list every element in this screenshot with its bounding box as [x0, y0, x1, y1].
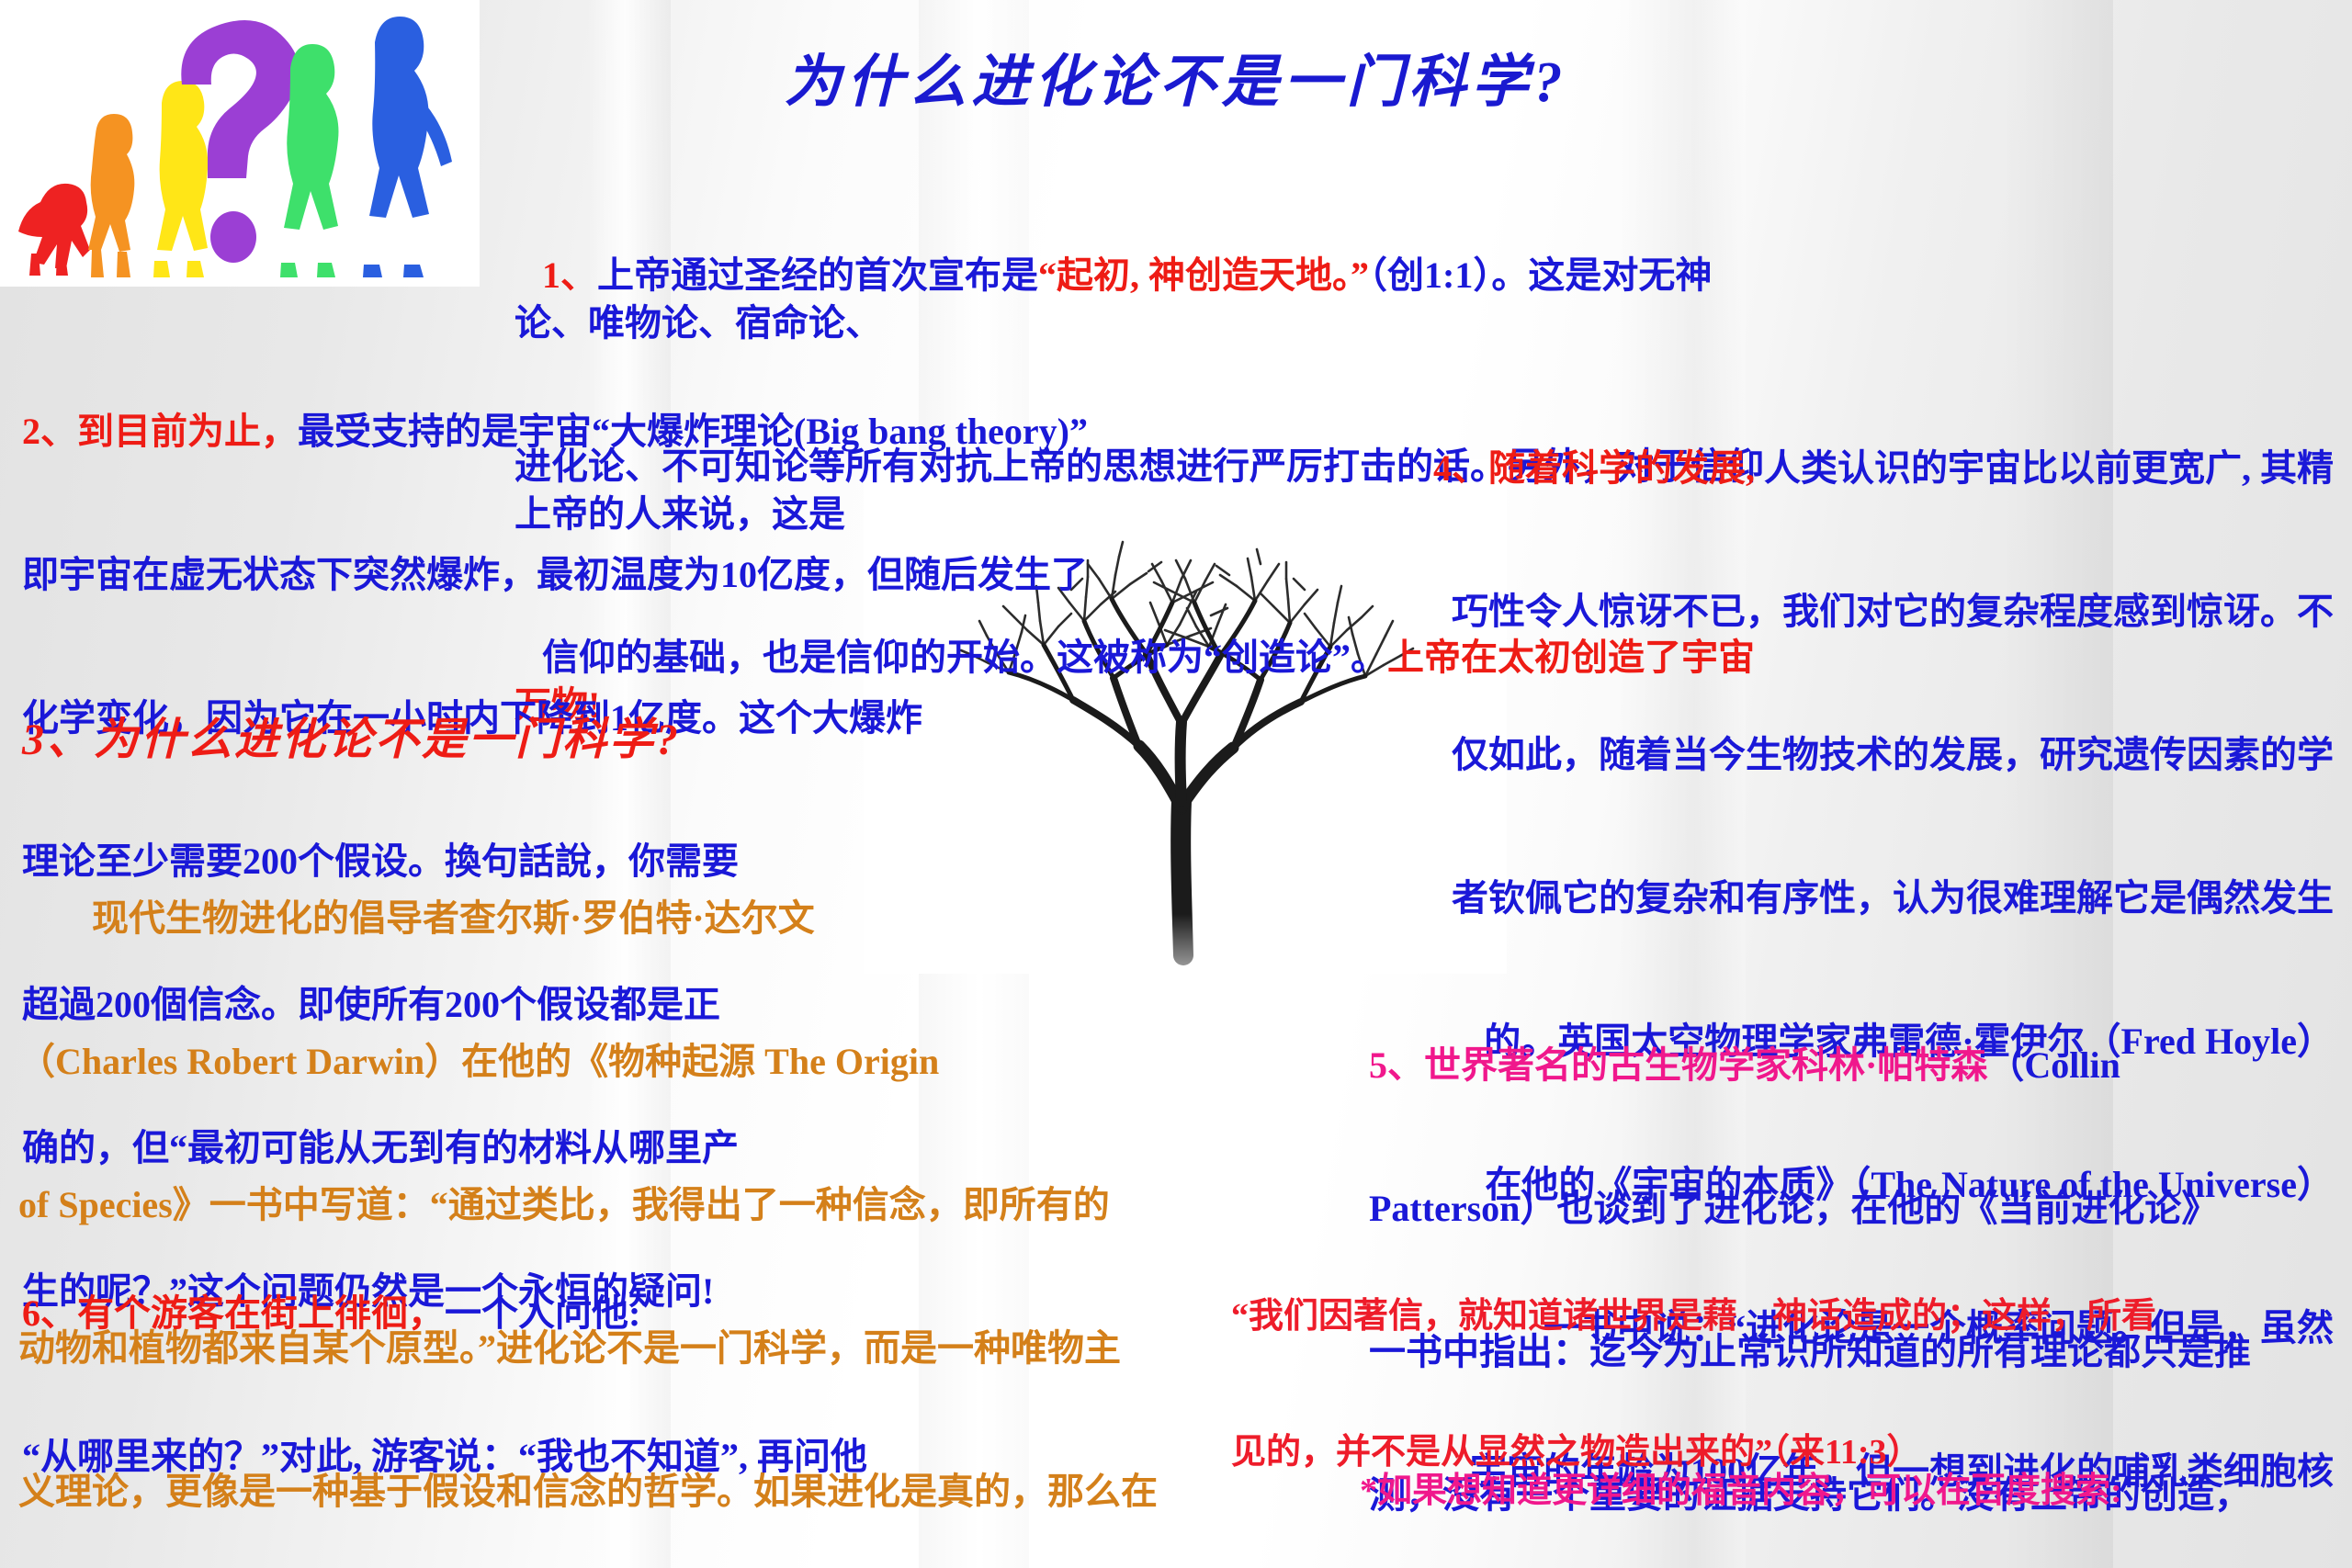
page-title-text: 为什么进化论不是一门科学?	[784, 51, 1567, 114]
paragraph-4-line-3: 仅如此，随着当今生物技术的发展，研究遗传因素的学	[1314, 731, 2334, 779]
paragraph-6-marker: 6、有个游客在街上徘徊，	[22, 1292, 445, 1334]
paragraph-1-marker: 1、	[542, 254, 597, 296]
paragraph-2-line-2: 即宇宙在虚无状态下突然爆炸，最初温度为10亿度，但随后发生了	[22, 551, 1244, 599]
paragraph-1-line-1-text: 上帝通过圣经的首次宣布是	[597, 254, 1038, 296]
paragraph-5-line-1-text: （Collin	[1987, 1044, 2120, 1086]
paragraph-3-line-1: 现代生物进化的倡导者查尔斯·罗伯特·达尔文	[18, 895, 1332, 942]
footer-note: *如果想知道更详细的福音内容，可以在百度搜索: 《我人生中最美好的开始》或者联系…	[1360, 1378, 2334, 1568]
section-3-heading: 3、为什么进化论不是一门科学?	[22, 703, 681, 767]
paragraph-2-line-1: 2、到目前为止，最受支持的是宇宙“大爆炸理论(Big bang theory)”	[22, 408, 1244, 456]
paragraph-4-line-1-text: 人类认识的宇宙比以前更宽广, 其精	[1755, 447, 2334, 489]
paragraph-2-marker: 2、到目前为止，	[22, 411, 298, 452]
scripture-quote-line-1: “我们因著信，就知道诸世界是藉 神话造成的；这样，所看	[1231, 1294, 2334, 1339]
evolution-question-mark-logo	[0, 0, 480, 287]
paragraph-2-line-1-text: 最受支持的是宇宙“大爆炸理论(Big bang theory)”	[298, 411, 1088, 452]
paragraph-4-marker: 4、随着科学的发展,	[1433, 447, 1755, 489]
paragraph-4-line-1: 4、随着科学的发展, 人类认识的宇宙比以前更宽广, 其精	[1314, 445, 2334, 492]
footer-note-line-1: *如果想知道更详细的福音内容，可以在百度搜索:	[1360, 1469, 2334, 1514]
paragraph-5-line-1: 5、世界著名的古生物学家科林·帕特森（Collin	[1369, 1042, 2334, 1089]
paragraph-6-line-2: “从哪里来的？”对此, 游客说：“我也不知道”, 再问他	[22, 1433, 1189, 1481]
paragraph-1-scripture-quote: “起初, 神创造天地。”	[1038, 254, 1369, 296]
paragraph-4-line-2: 巧性令人惊讶不已，我们对它的复杂程度感到惊讶。不	[1314, 588, 2334, 636]
paragraph-3-line-2: （Charles Robert Darwin）在他的《物种起源 The Orig…	[18, 1038, 1332, 1086]
paragraph-5-marker: 5、世界著名的古生物学家科林·帕特森	[1369, 1044, 1987, 1086]
paragraph-6: 6、有个游客在街上徘徊，一个人问他: “从哪里来的？”对此, 游客说：“我也不知…	[22, 1194, 1189, 1568]
paragraph-4-line-4: 者钦佩它的复杂和有序性，认为很难理解它是偶然发生	[1314, 874, 2334, 922]
poster-root: 为什么进化论不是一门科学?	[0, 0, 2352, 1568]
page-title: 为什么进化论不是一门科学?	[643, 35, 1709, 118]
paragraph-6-line-1: 6、有个游客在街上徘徊，一个人问他:	[22, 1290, 1189, 1337]
paragraph-6-line-1-text: 一个人问他:	[445, 1292, 640, 1334]
